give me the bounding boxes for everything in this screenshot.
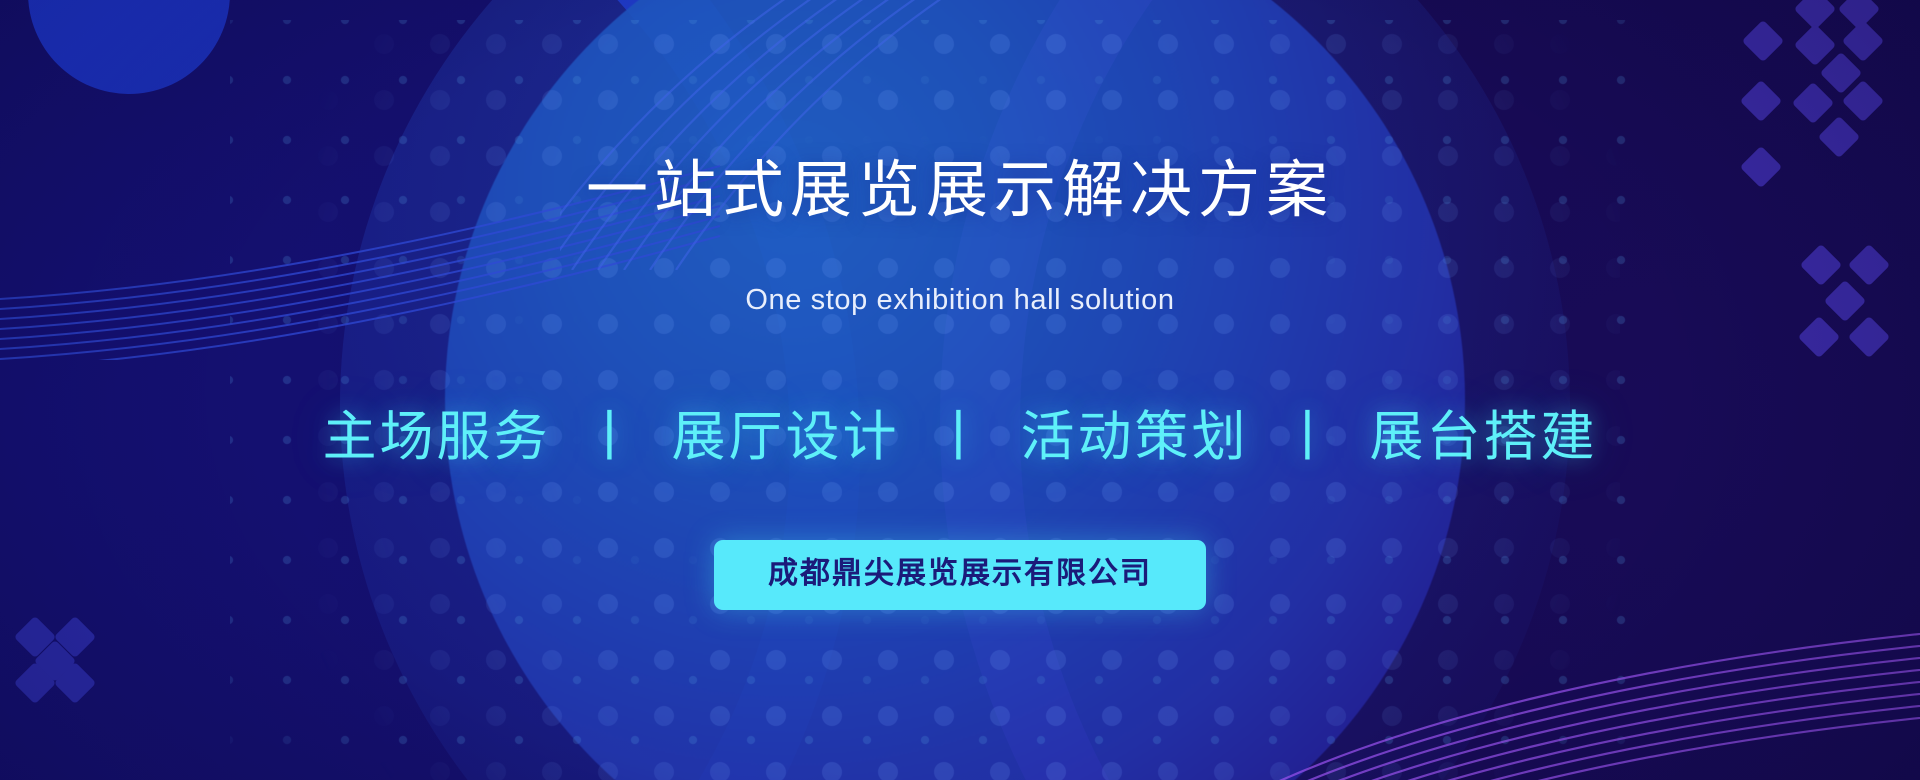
service-separator-icon: 丨 <box>918 407 1003 467</box>
service-item-0: 主场服务 <box>322 407 550 467</box>
company-name-button[interactable]: 成都鼎尖展览展示有限公司 <box>714 540 1206 610</box>
page-title: 一站式展览展示解决方案 <box>586 160 1334 222</box>
service-separator-icon: 丨 <box>568 407 653 467</box>
page-subtitle: One stop exhibition hall solution <box>745 286 1174 315</box>
hero-banner: 一站式展览展示解决方案 One stop exhibition hall sol… <box>0 0 1920 780</box>
cta-container: 成都鼎尖展览展示有限公司 <box>714 540 1206 610</box>
service-item-1: 展厅设计 <box>671 407 899 467</box>
service-separator-icon: 丨 <box>1267 407 1352 467</box>
service-item-2: 活动策划 <box>1021 407 1249 467</box>
service-list: 主场服务 丨 展厅设计 丨 活动策划 丨 展台搭建 <box>322 406 1597 468</box>
service-item-3: 展台搭建 <box>1370 407 1598 467</box>
banner-content: 一站式展览展示解决方案 One stop exhibition hall sol… <box>0 0 1920 780</box>
